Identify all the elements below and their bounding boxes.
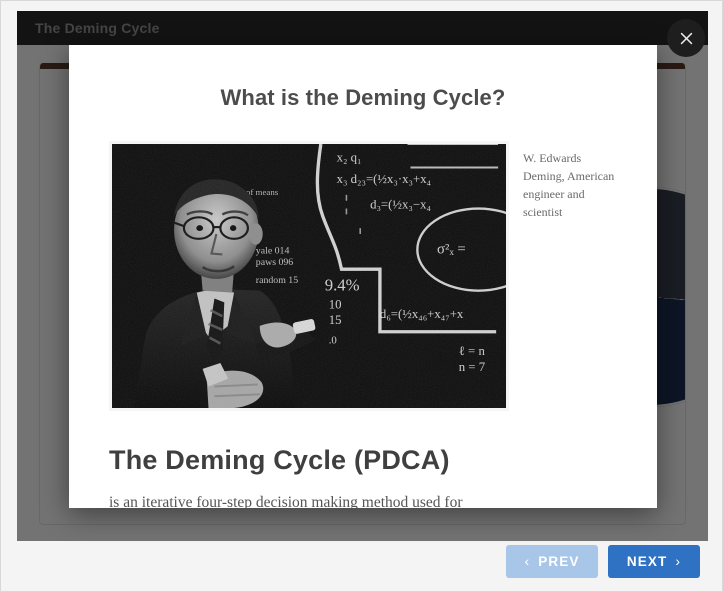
photo-caption: W. Edwards Deming, American engineer and… xyxy=(523,141,617,221)
modal-scroll-area[interactable]: What is the Deming Cycle? xyxy=(69,45,657,508)
deming-blackboard-photo: x₂ q₁ x₃ d₂₃=(½x₃·x₃+x₄ d₃=(½x₃−x₄ σ²ₓ =… xyxy=(109,141,509,411)
info-modal: What is the Deming Cycle? xyxy=(69,45,657,508)
footer-nav: ‹ PREV NEXT › xyxy=(1,539,706,583)
close-button[interactable] xyxy=(667,19,705,57)
chevron-left-icon: ‹ xyxy=(525,554,531,568)
modal-paragraph: is an iterative four-step decision makin… xyxy=(109,490,617,508)
next-button[interactable]: NEXT › xyxy=(608,545,700,578)
next-button-label: NEXT xyxy=(627,554,667,569)
figure-row: x₂ q₁ x₃ d₂₃=(½x₃·x₃+x₄ d₃=(½x₃−x₄ σ²ₓ =… xyxy=(109,141,617,411)
modal-title: What is the Deming Cycle? xyxy=(109,85,617,111)
chevron-right-icon: › xyxy=(675,554,681,568)
prev-button[interactable]: ‹ PREV xyxy=(506,545,598,578)
modal-subheading: The Deming Cycle (PDCA) xyxy=(109,445,617,476)
close-icon xyxy=(678,30,695,47)
app-frame: The Deming Cycle P An To What is the Dem… xyxy=(0,0,723,592)
prev-button-label: PREV xyxy=(538,554,579,569)
